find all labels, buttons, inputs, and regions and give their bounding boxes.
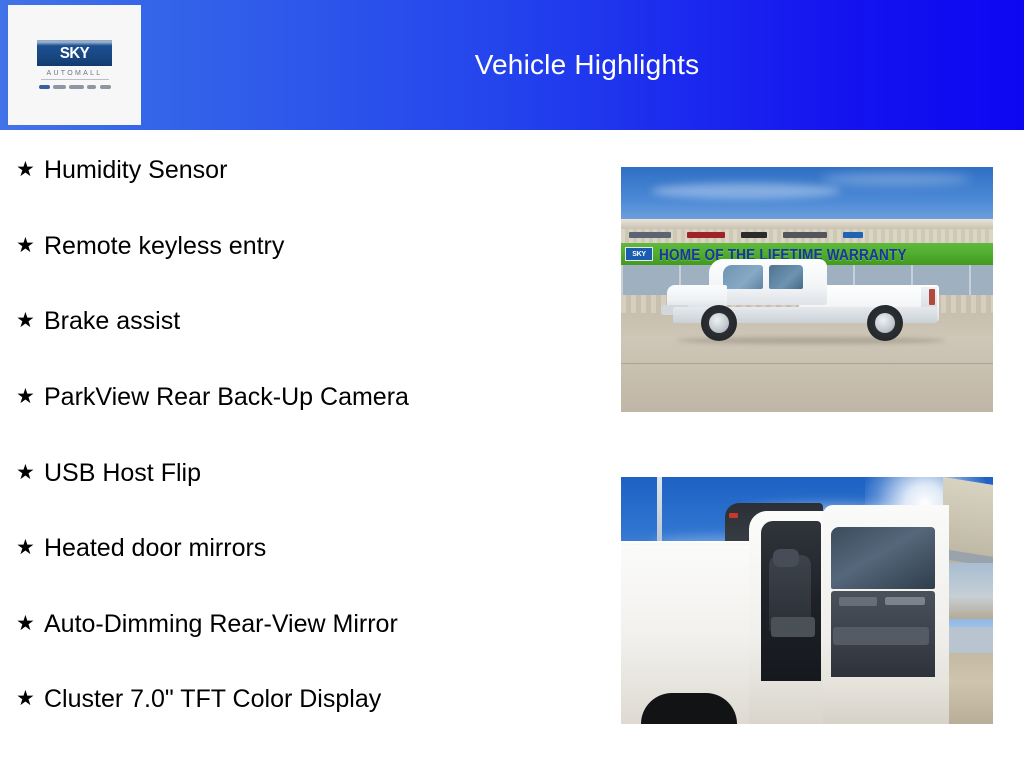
sign-ram-icon	[783, 232, 827, 238]
brand-mark-ram-icon	[87, 85, 96, 89]
feature-label: Cluster 7.0" TFT Color Display	[44, 685, 381, 713]
door-armrest	[833, 627, 929, 645]
window-switch-panel	[885, 597, 925, 605]
list-item: ★ ParkView Rear Back-Up Camera	[10, 373, 600, 449]
dealer-logo-tagline: AUTOMALL	[46, 70, 102, 77]
feature-label: USB Host Flip	[44, 459, 201, 487]
dealer-logo[interactable]: SKY AUTOMALL	[8, 5, 141, 125]
vehicle-highlights-slide: Vehicle Highlights SKY AUTOMALL ★ Humidi…	[0, 0, 1024, 768]
sign-jeep-icon	[741, 232, 767, 238]
feature-label: Auto-Dimming Rear-View Mirror	[44, 610, 398, 638]
feature-label: Remote keyless entry	[44, 232, 284, 260]
slide-header: Vehicle Highlights	[0, 0, 1024, 130]
list-item: ★ Humidity Sensor	[10, 146, 600, 222]
truck-front-window	[723, 265, 763, 289]
sign-chrysler-icon	[629, 232, 671, 238]
sign-sky-icon	[843, 232, 863, 238]
star-bullet-icon: ★	[10, 685, 44, 713]
brand-mark-chrysler-icon	[39, 85, 50, 89]
cloud-shape	[651, 183, 841, 199]
list-item: ★ Heated door mirrors	[10, 524, 600, 600]
truck-rear-hubcap	[875, 313, 895, 333]
brand-mark-sky-icon	[100, 85, 111, 89]
brand-mark-jeep-icon	[69, 85, 84, 89]
star-bullet-icon: ★	[10, 459, 44, 487]
cloud-shape	[821, 173, 971, 185]
feature-label: Brake assist	[44, 307, 180, 335]
rear-tire	[641, 693, 737, 724]
door-lower-panel	[823, 677, 949, 724]
list-item: ★ Remote keyless entry	[10, 222, 600, 298]
seat-cushion	[771, 617, 815, 637]
page-title: Vehicle Highlights	[150, 0, 1024, 130]
banner-sky-logo: SKY	[625, 247, 653, 261]
door-handle	[839, 597, 877, 606]
cab-marker-light	[729, 513, 738, 518]
feature-label: Heated door mirrors	[44, 534, 266, 562]
list-item: ★ USB Host Flip	[10, 449, 600, 525]
truck-taillight	[929, 289, 935, 305]
truck-rear-window	[769, 265, 803, 289]
truck-front-hubcap	[709, 313, 729, 333]
star-bullet-icon: ★	[10, 383, 44, 411]
dealer-brand-marks	[39, 83, 111, 90]
dealership-brand-signs	[621, 227, 993, 243]
list-item: ★ Brake assist	[10, 297, 600, 373]
pavement-seam	[621, 363, 993, 364]
door-window-glass	[831, 527, 935, 589]
star-bullet-icon: ★	[10, 156, 44, 184]
sky-logo-mark: SKY	[37, 40, 112, 66]
feature-label: ParkView Rear Back-Up Camera	[44, 383, 409, 411]
sky-logo-text: SKY	[60, 44, 89, 62]
feature-list: ★ Humidity Sensor ★ Remote keyless entry…	[10, 146, 600, 751]
light-pole	[657, 477, 662, 549]
seat-headrest	[773, 549, 799, 567]
star-bullet-icon: ★	[10, 232, 44, 260]
vehicle-photo-interior[interactable]	[621, 477, 993, 724]
list-item: ★ Auto-Dimming Rear-View Mirror	[10, 600, 600, 676]
dealer-logo-inner: SKY AUTOMALL	[25, 40, 125, 90]
sign-dodge-icon	[687, 232, 725, 238]
dealer-logo-divider	[41, 79, 109, 80]
vehicle-photo-exterior[interactable]: SKY HOME OF THE LIFETIME WARRANTY	[621, 167, 993, 412]
star-bullet-icon: ★	[10, 610, 44, 638]
star-bullet-icon: ★	[10, 307, 44, 335]
feature-label: Humidity Sensor	[44, 156, 227, 184]
star-bullet-icon: ★	[10, 534, 44, 562]
list-item: ★ Cluster 7.0" TFT Color Display	[10, 675, 600, 751]
brand-mark-dodge-icon	[53, 85, 66, 89]
